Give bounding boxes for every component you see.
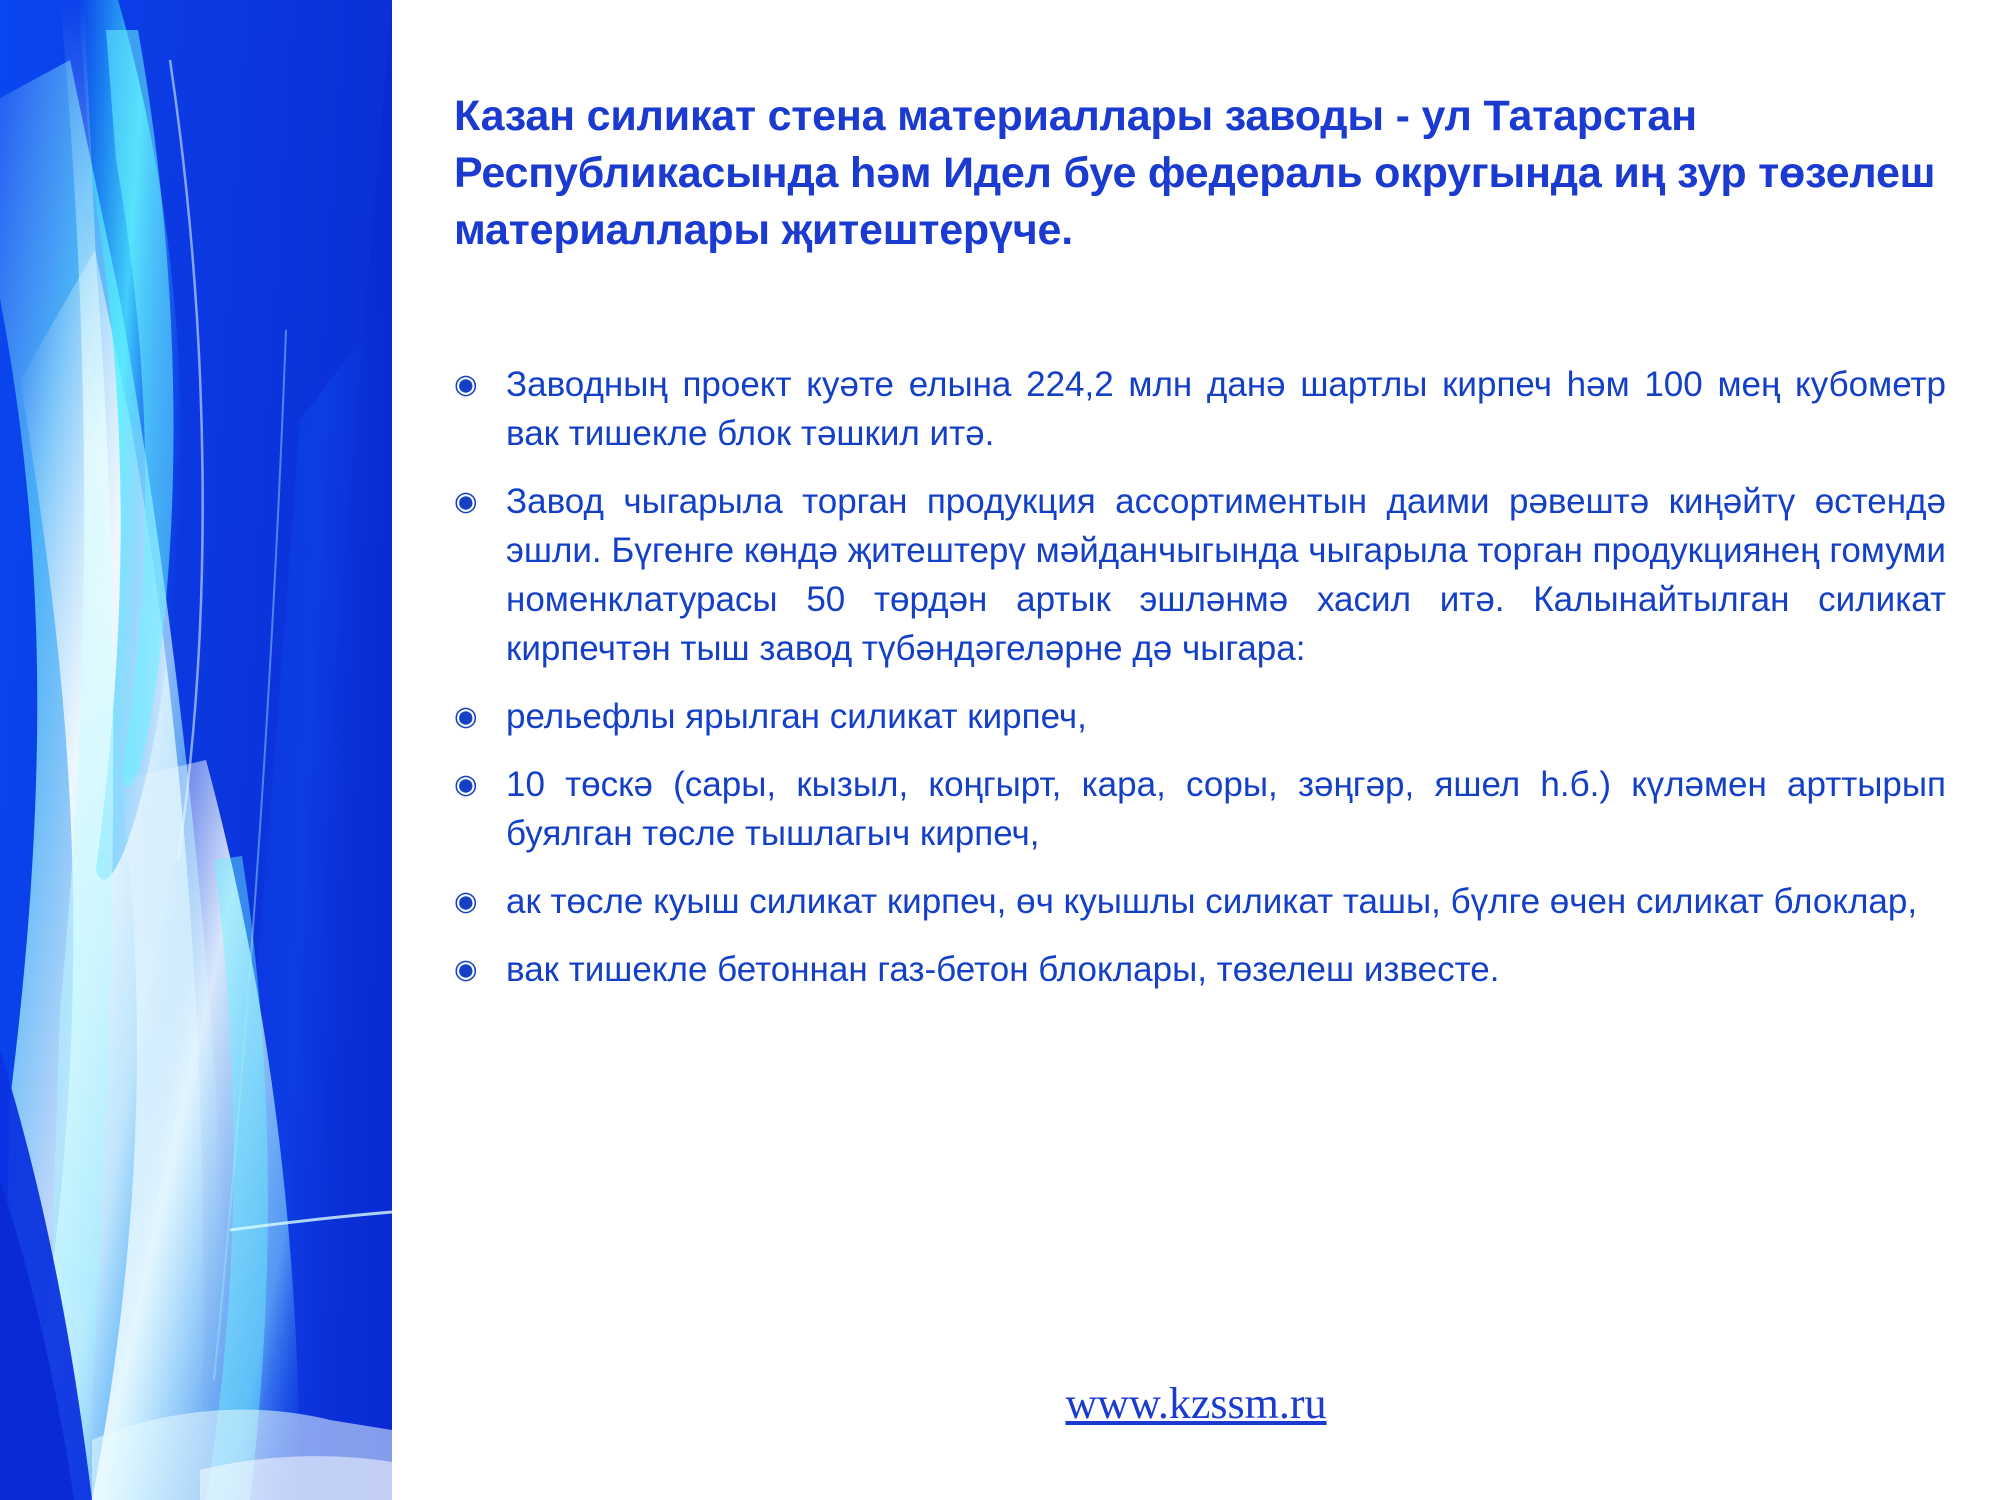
slide: Казан силикат стена материаллары заводы … [0,0,2000,1500]
page-title: Казан силикат стена материаллары заводы … [454,88,1944,259]
list-item-text: вак тишекле бетоннан газ-бетон блоклары,… [506,945,1946,994]
list-item-text: Завод чыгарыла торган продукция ассортим… [506,477,1946,673]
list-item: ◉ ак төсле куыш силикат кирпеч, өч куышл… [454,877,1946,926]
decorative-blue-artwork-panel [0,0,392,1500]
list-item: ◉ вак тишекле бетоннан газ-бетон блоклар… [454,945,1946,994]
circled-dot-bullet-icon: ◉ [454,360,488,409]
circled-dot-bullet-icon: ◉ [454,945,488,994]
list-item-text: ак төсле куыш силикат кирпеч, өч куышлы … [506,877,1946,926]
list-item: ◉ рельефлы ярылган силикат кирпеч, [454,692,1946,741]
circled-dot-bullet-icon: ◉ [454,877,488,926]
list-item: ◉ Заводның проект куәте елына 224,2 млн … [454,360,1946,458]
website-link[interactable]: www.kzssm.ru [1065,1379,1326,1428]
footer: www.kzssm.ru [392,1378,2000,1429]
list-item: ◉ 10 төскә (сары, кызыл, коңгырт, кара, … [454,760,1946,858]
circled-dot-bullet-icon: ◉ [454,477,488,526]
list-item-text: Заводның проект куәте елына 224,2 млн да… [506,360,1946,458]
slide-content: Казан силикат стена материаллары заводы … [392,0,2000,1500]
list-item-text: рельефлы ярылган силикат кирпеч, [506,692,1946,741]
circled-dot-bullet-icon: ◉ [454,692,488,741]
list-item: ◉ Завод чыгарыла торган продукция ассорт… [454,477,1946,673]
bullet-list: ◉ Заводның проект куәте елына 224,2 млн … [454,360,1946,994]
circled-dot-bullet-icon: ◉ [454,760,488,809]
list-item-text: 10 төскә (сары, кызыл, коңгырт, кара, со… [506,760,1946,858]
